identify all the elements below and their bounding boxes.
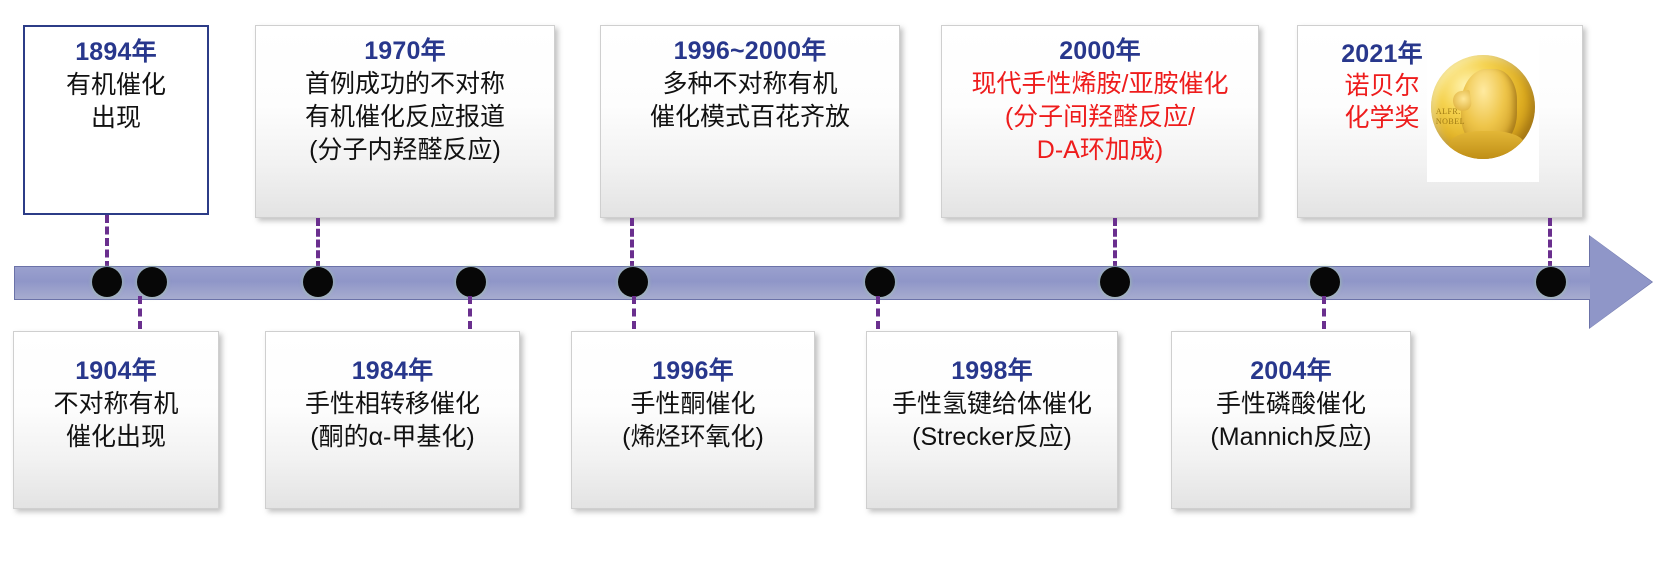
connector-1894 bbox=[105, 215, 109, 269]
event-year: 2000年 bbox=[942, 34, 1258, 68]
event-card-bottom-1984[interactable]: 1984年 手性相转移催化 (酮的α-甲基化) bbox=[265, 331, 520, 509]
event-description: 有机催化 出现 bbox=[25, 69, 207, 135]
nobel-medal-icon: ALFR. NOBEL bbox=[1431, 55, 1535, 159]
event-description: 手性相转移催化 (酮的α-甲基化) bbox=[266, 388, 519, 454]
event-card-bottom-1904[interactable]: 1904年 不对称有机 催化出现 bbox=[13, 331, 219, 509]
timeline-dot-1996[interactable] bbox=[618, 267, 648, 297]
connector-2000 bbox=[1113, 218, 1117, 269]
event-year: 1996~2000年 bbox=[601, 34, 899, 68]
timeline-dot-1970[interactable] bbox=[303, 267, 333, 297]
event-year: 2021年 bbox=[1341, 38, 1423, 70]
event-card-bottom-2004[interactable]: 2004年 手性磷酸催化 (Mannich反应) bbox=[1171, 331, 1411, 509]
timeline-arrow-head-icon bbox=[1590, 236, 1652, 328]
event-description: 手性磷酸催化 (Mannich反应) bbox=[1172, 388, 1410, 454]
connector-1904 bbox=[138, 296, 142, 329]
connector-1996-2000 bbox=[630, 218, 634, 269]
event-card-top-1970[interactable]: 1970年 首例成功的不对称 有机催化反应报道 (分子内羟醛反应) bbox=[255, 25, 555, 218]
connector-1984 bbox=[468, 296, 472, 329]
connector-2021 bbox=[1548, 218, 1552, 269]
event-card-bottom-1996[interactable]: 1996年 手性酮催化 (烯烃环氧化) bbox=[571, 331, 815, 509]
timeline-dot-2004[interactable] bbox=[1310, 267, 1340, 297]
event-description: 现代手性烯胺/亚胺催化 (分子间羟醛反应/ D-A环加成) bbox=[942, 68, 1258, 167]
connector-1996 bbox=[632, 296, 636, 329]
event-year: 1996年 bbox=[572, 354, 814, 388]
timeline-dot-1894[interactable] bbox=[92, 267, 122, 297]
timeline-dot-2000[interactable] bbox=[1100, 267, 1130, 297]
nobel-medal-image: ALFR. NOBEL bbox=[1427, 32, 1539, 182]
event-year: 1984年 bbox=[266, 354, 519, 388]
nobel-text-block: 2021年 诺贝尔 化学奖 bbox=[1341, 32, 1423, 134]
event-description: 手性酮催化 (烯烃环氧化) bbox=[572, 388, 814, 454]
nobel-card-content: 2021年 诺贝尔 化学奖 ALFR. NOBEL bbox=[1298, 32, 1582, 182]
event-card-top-1996-2000[interactable]: 1996~2000年 多种不对称有机 催化模式百花齐放 bbox=[600, 25, 900, 218]
timeline-dot-1904[interactable] bbox=[137, 267, 167, 297]
connector-1998 bbox=[876, 296, 880, 329]
timeline-dot-1984[interactable] bbox=[456, 267, 486, 297]
event-year: 2004年 bbox=[1172, 354, 1410, 388]
connector-1970 bbox=[316, 218, 320, 269]
event-year: 1998年 bbox=[867, 354, 1117, 388]
event-year: 1970年 bbox=[256, 34, 554, 68]
medal-portrait-shoulder bbox=[1449, 131, 1525, 159]
event-year: 1894年 bbox=[25, 35, 207, 69]
event-card-bottom-1998[interactable]: 1998年 手性氢键给体催化 (Strecker反应) bbox=[866, 331, 1118, 509]
timeline-bar bbox=[14, 266, 1595, 300]
event-card-top-2000[interactable]: 2000年 现代手性烯胺/亚胺催化 (分子间羟醛反应/ D-A环加成) bbox=[941, 25, 1259, 218]
timeline-dot-2021[interactable] bbox=[1536, 267, 1566, 297]
event-year: 1904年 bbox=[14, 354, 218, 388]
event-description: 不对称有机 催化出现 bbox=[14, 388, 218, 454]
medal-inscription-left: ALFR. NOBEL bbox=[1436, 107, 1482, 127]
event-description-line: 诺贝尔 bbox=[1341, 70, 1423, 102]
event-description: 多种不对称有机 催化模式百花齐放 bbox=[601, 68, 899, 134]
event-description: 手性氢键给体催化 (Strecker反应) bbox=[867, 388, 1117, 454]
event-card-top-2021[interactable]: 2021年 诺贝尔 化学奖 ALFR. NOBEL bbox=[1297, 25, 1583, 218]
connector-2004 bbox=[1322, 296, 1326, 329]
event-description: 首例成功的不对称 有机催化反应报道 (分子内羟醛反应) bbox=[256, 68, 554, 167]
event-card-top-1894[interactable]: 1894年 有机催化 出现 bbox=[23, 25, 209, 215]
timeline-dot-1998[interactable] bbox=[865, 267, 895, 297]
timeline-diagram: 1894年 有机催化 出现 1970年 首例成功的不对称 有机催化反应报道 (分… bbox=[0, 0, 1663, 574]
event-description-line: 化学奖 bbox=[1341, 102, 1423, 134]
